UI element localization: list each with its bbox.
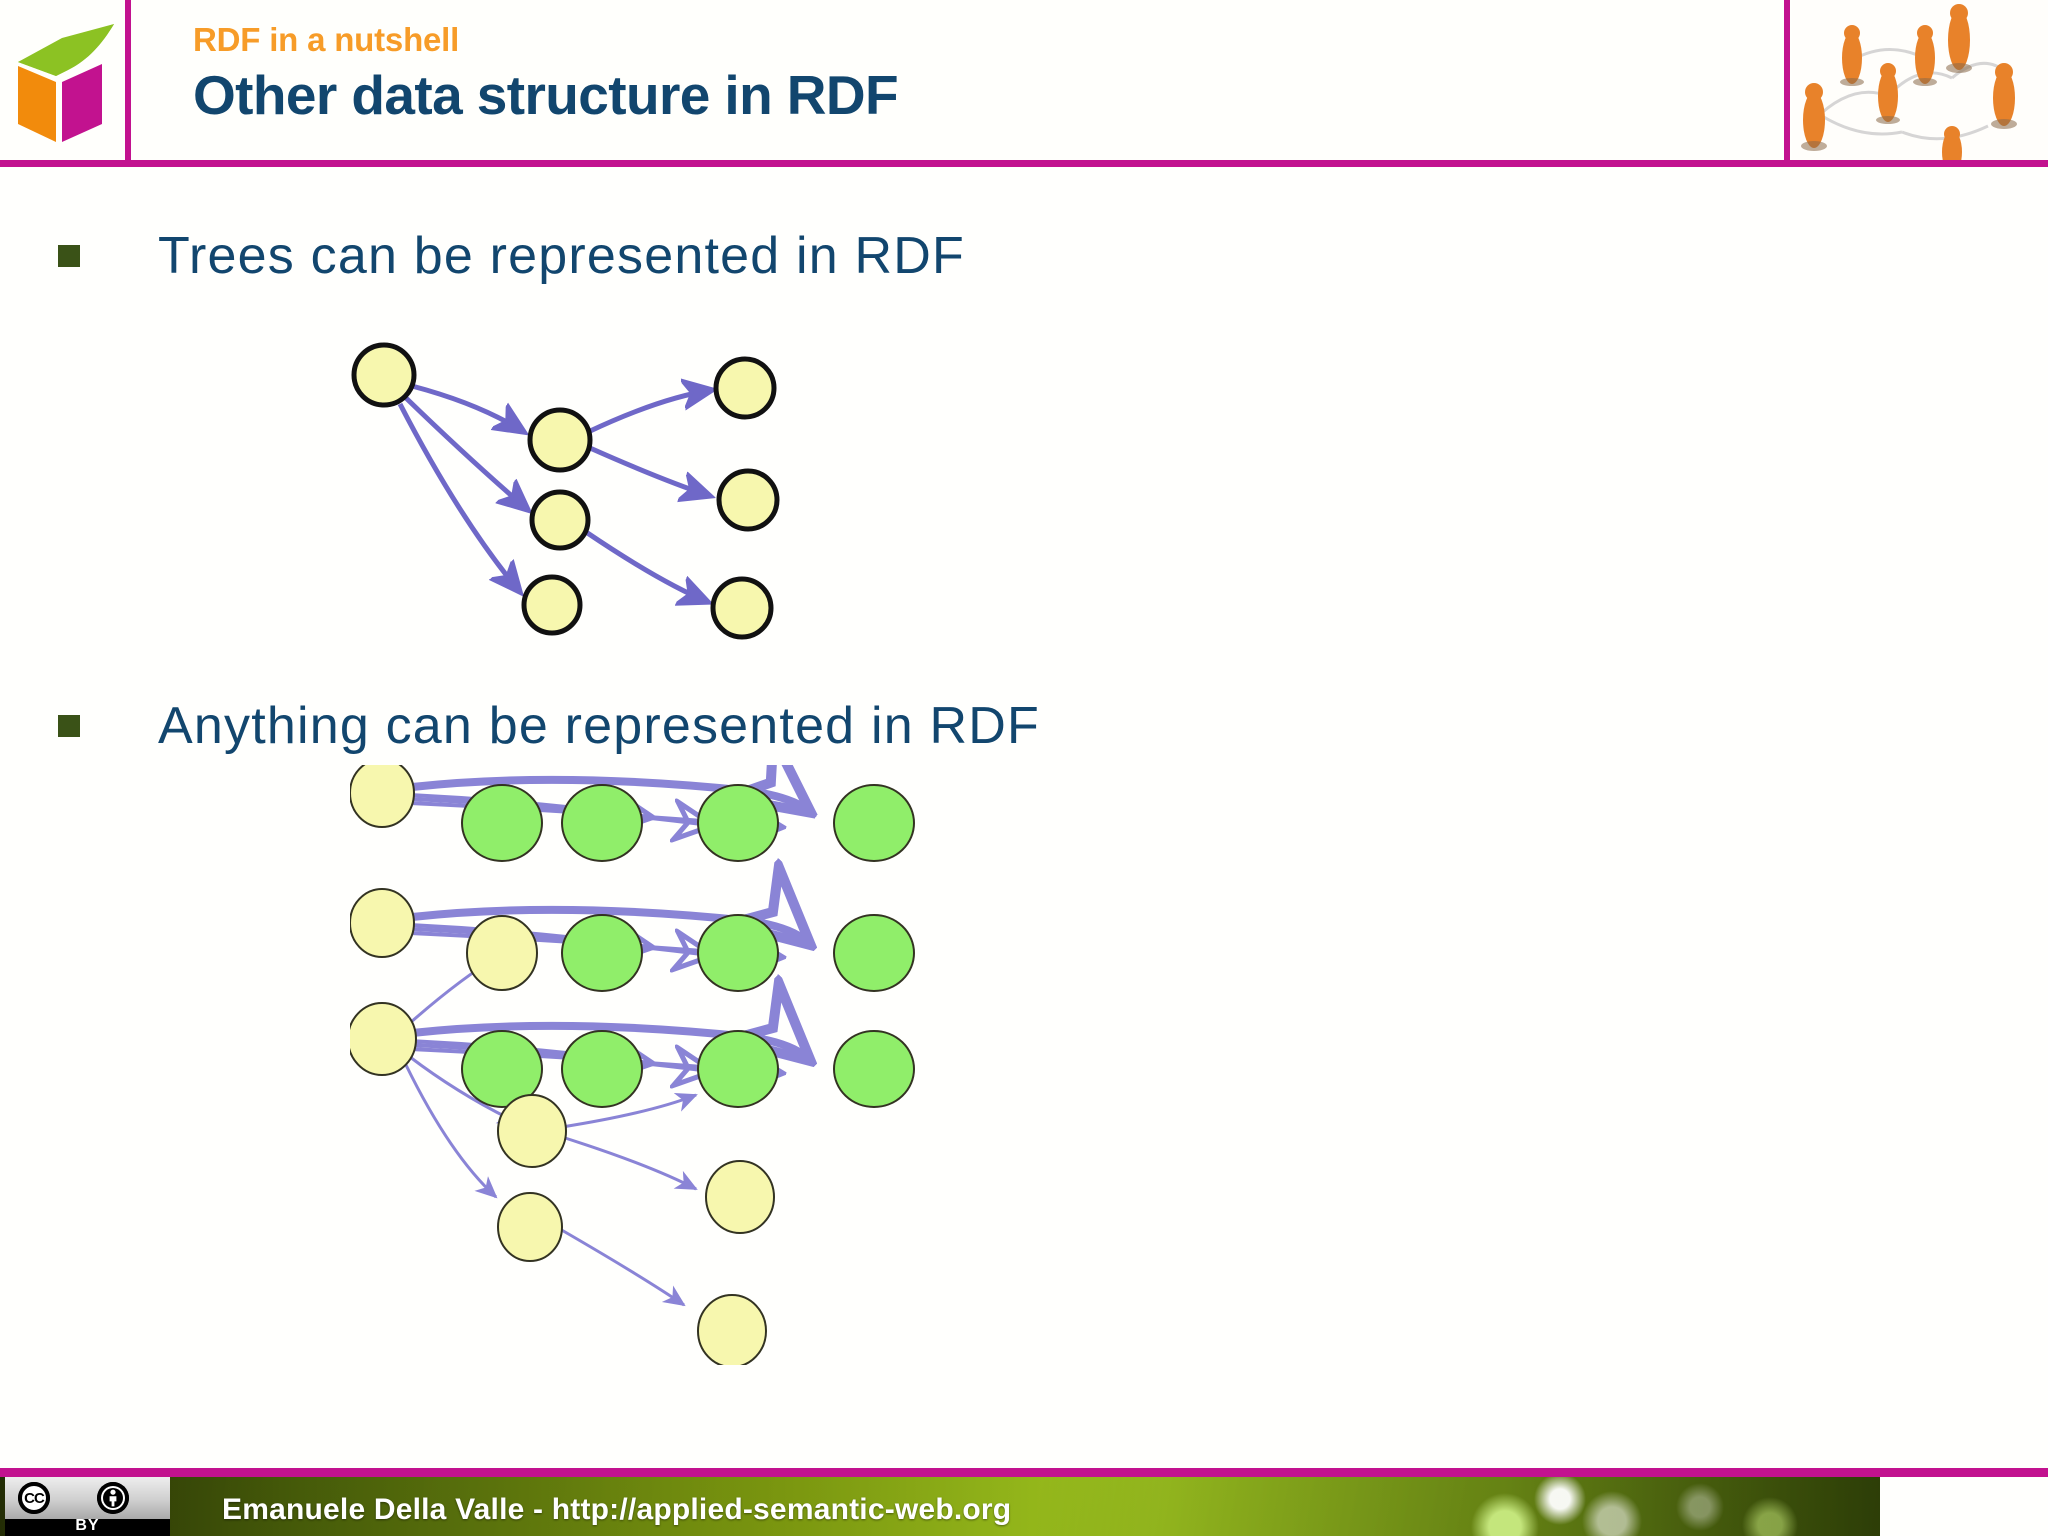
- bullet-item-1: Trees can be represented in RDF: [58, 226, 965, 286]
- tree-node: [530, 410, 590, 470]
- people-network-photo: [1792, 0, 2048, 160]
- graph-node-green: [834, 915, 914, 991]
- tree-diagram: [320, 320, 840, 685]
- cube-logo-icon: [10, 8, 122, 150]
- graph-node-green: [698, 915, 778, 991]
- person-glyph: [100, 1485, 126, 1511]
- graph-node-green: [698, 785, 778, 861]
- graph-node-green: [834, 785, 914, 861]
- graph-node-yellow: [698, 1295, 766, 1365]
- graph-row-3: [350, 1003, 914, 1107]
- header-title-block: RDF in a nutshell Other data structure i…: [193, 20, 898, 128]
- square-bullet-icon: [58, 245, 80, 267]
- slide-root: RDF in a nutshell Other data structure i…: [0, 0, 2048, 1536]
- tree-node: [713, 579, 771, 637]
- footer-bar: Emanuele Della Valle - http://applied-se…: [0, 1477, 1880, 1536]
- graph-node-green: [562, 915, 642, 991]
- graph-diagram: [350, 765, 1050, 1370]
- cc-by-label: BY: [5, 1517, 170, 1535]
- logo-container: [0, 0, 131, 160]
- bullet-item-1-label: Trees can be represented in RDF: [158, 226, 965, 286]
- graph-node-green: [562, 785, 642, 861]
- tree-node: [524, 577, 580, 633]
- square-bullet-icon: [58, 715, 80, 737]
- tree-node: [532, 492, 588, 548]
- bullet-item-2: Anything can be represented in RDF: [58, 696, 1040, 756]
- graph-node-green: [698, 1031, 778, 1107]
- graph-tail-nodes: [498, 1095, 774, 1365]
- slide-footer: Emanuele Della Valle - http://applied-se…: [0, 1468, 2048, 1536]
- footer-top-rule: [0, 1468, 2048, 1477]
- slide-header: RDF in a nutshell Other data structure i…: [0, 0, 2048, 166]
- header-bottom-rule: [0, 160, 2048, 167]
- graph-node-yellow: [350, 889, 414, 957]
- graph-row-2: [350, 889, 914, 991]
- cc-icon-label: CC: [18, 1482, 50, 1514]
- graph-node-yellow: [350, 765, 414, 827]
- graph-node-yellow: [350, 1003, 416, 1075]
- tree-node: [354, 345, 414, 405]
- page-title: Other data structure in RDF: [193, 62, 898, 128]
- header-vertical-divider: [1784, 0, 1790, 160]
- graph-node-yellow: [498, 1095, 566, 1167]
- graph-node-green: [834, 1031, 914, 1107]
- graph-node-yellow: [467, 916, 537, 990]
- tree-node: [716, 359, 774, 417]
- header-kicker: RDF in a nutshell: [193, 20, 898, 60]
- graph-node-green: [562, 1031, 642, 1107]
- cc-icon: CC: [18, 1482, 50, 1514]
- graph-node-yellow: [706, 1161, 774, 1233]
- creative-commons-badge[interactable]: CC BY: [5, 1477, 170, 1536]
- tree-node: [719, 471, 777, 529]
- graph-node-yellow: [498, 1193, 562, 1261]
- bullet-item-2-label: Anything can be represented in RDF: [158, 696, 1040, 756]
- footer-credit: Emanuele Della Valle - http://applied-se…: [222, 1493, 1011, 1527]
- person-icon: [97, 1482, 129, 1514]
- graph-node-green: [462, 785, 542, 861]
